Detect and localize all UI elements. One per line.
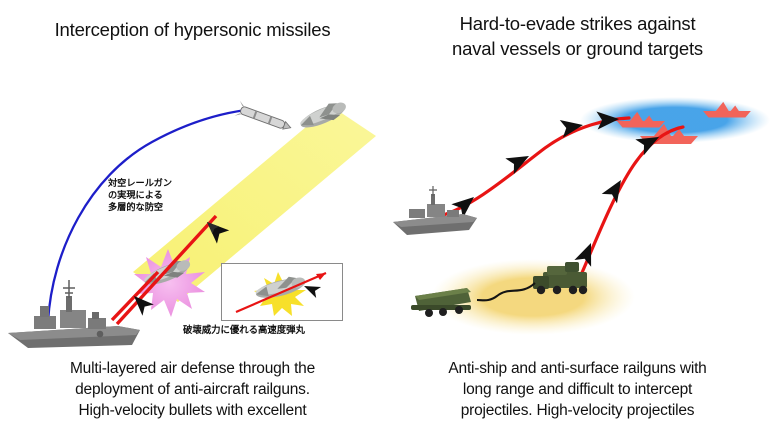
- infographic-slide: Interception of hypersonic missiles: [0, 0, 770, 410]
- railgun-round-lower: [112, 272, 158, 320]
- annotation-line-3: 多層的な防空: [108, 202, 172, 214]
- booster-rocket: [234, 101, 293, 136]
- caption-line-2: long range and difficult to intercept: [403, 379, 752, 400]
- left-panel-caption: Multi-layered air defense through the de…: [18, 358, 367, 421]
- caption-line-3: projectiles. High-velocity projectiles: [403, 400, 752, 421]
- panel-interception: Interception of hypersonic missiles: [0, 0, 385, 410]
- left-inset-artwork: [222, 264, 342, 320]
- caption-line-1: Anti-ship and anti-surface railguns with: [403, 358, 752, 379]
- left-panel-artwork: [0, 0, 385, 410]
- left-inset-caption-text: 破壊威力に優れる高速度弾丸: [183, 325, 305, 337]
- panel-strikes: Hard-to-evade strikes against naval vess…: [385, 0, 770, 410]
- left-air-defense-annotation: 対空レールガン の実現による 多層的な防空: [108, 178, 172, 215]
- right-panel-artwork: [385, 0, 770, 410]
- annotation-line-2: の実現による: [108, 190, 172, 202]
- caption-line-2: deployment of anti-aircraft railguns.: [18, 379, 367, 400]
- ground-launch-trajectory: [581, 127, 683, 275]
- left-inset-caption: 破壊威力に優れる高速度弾丸: [183, 325, 305, 337]
- caption-line-3: High-velocity bullets with excellent: [18, 400, 367, 421]
- right-panel-caption: Anti-ship and anti-surface railguns with…: [403, 358, 752, 421]
- left-inset-panel: [221, 263, 343, 321]
- annotation-line-1: 対空レールガン: [108, 178, 172, 190]
- friendly-destroyer: [8, 280, 140, 348]
- caption-line-1: Multi-layered air defense through the: [18, 358, 367, 379]
